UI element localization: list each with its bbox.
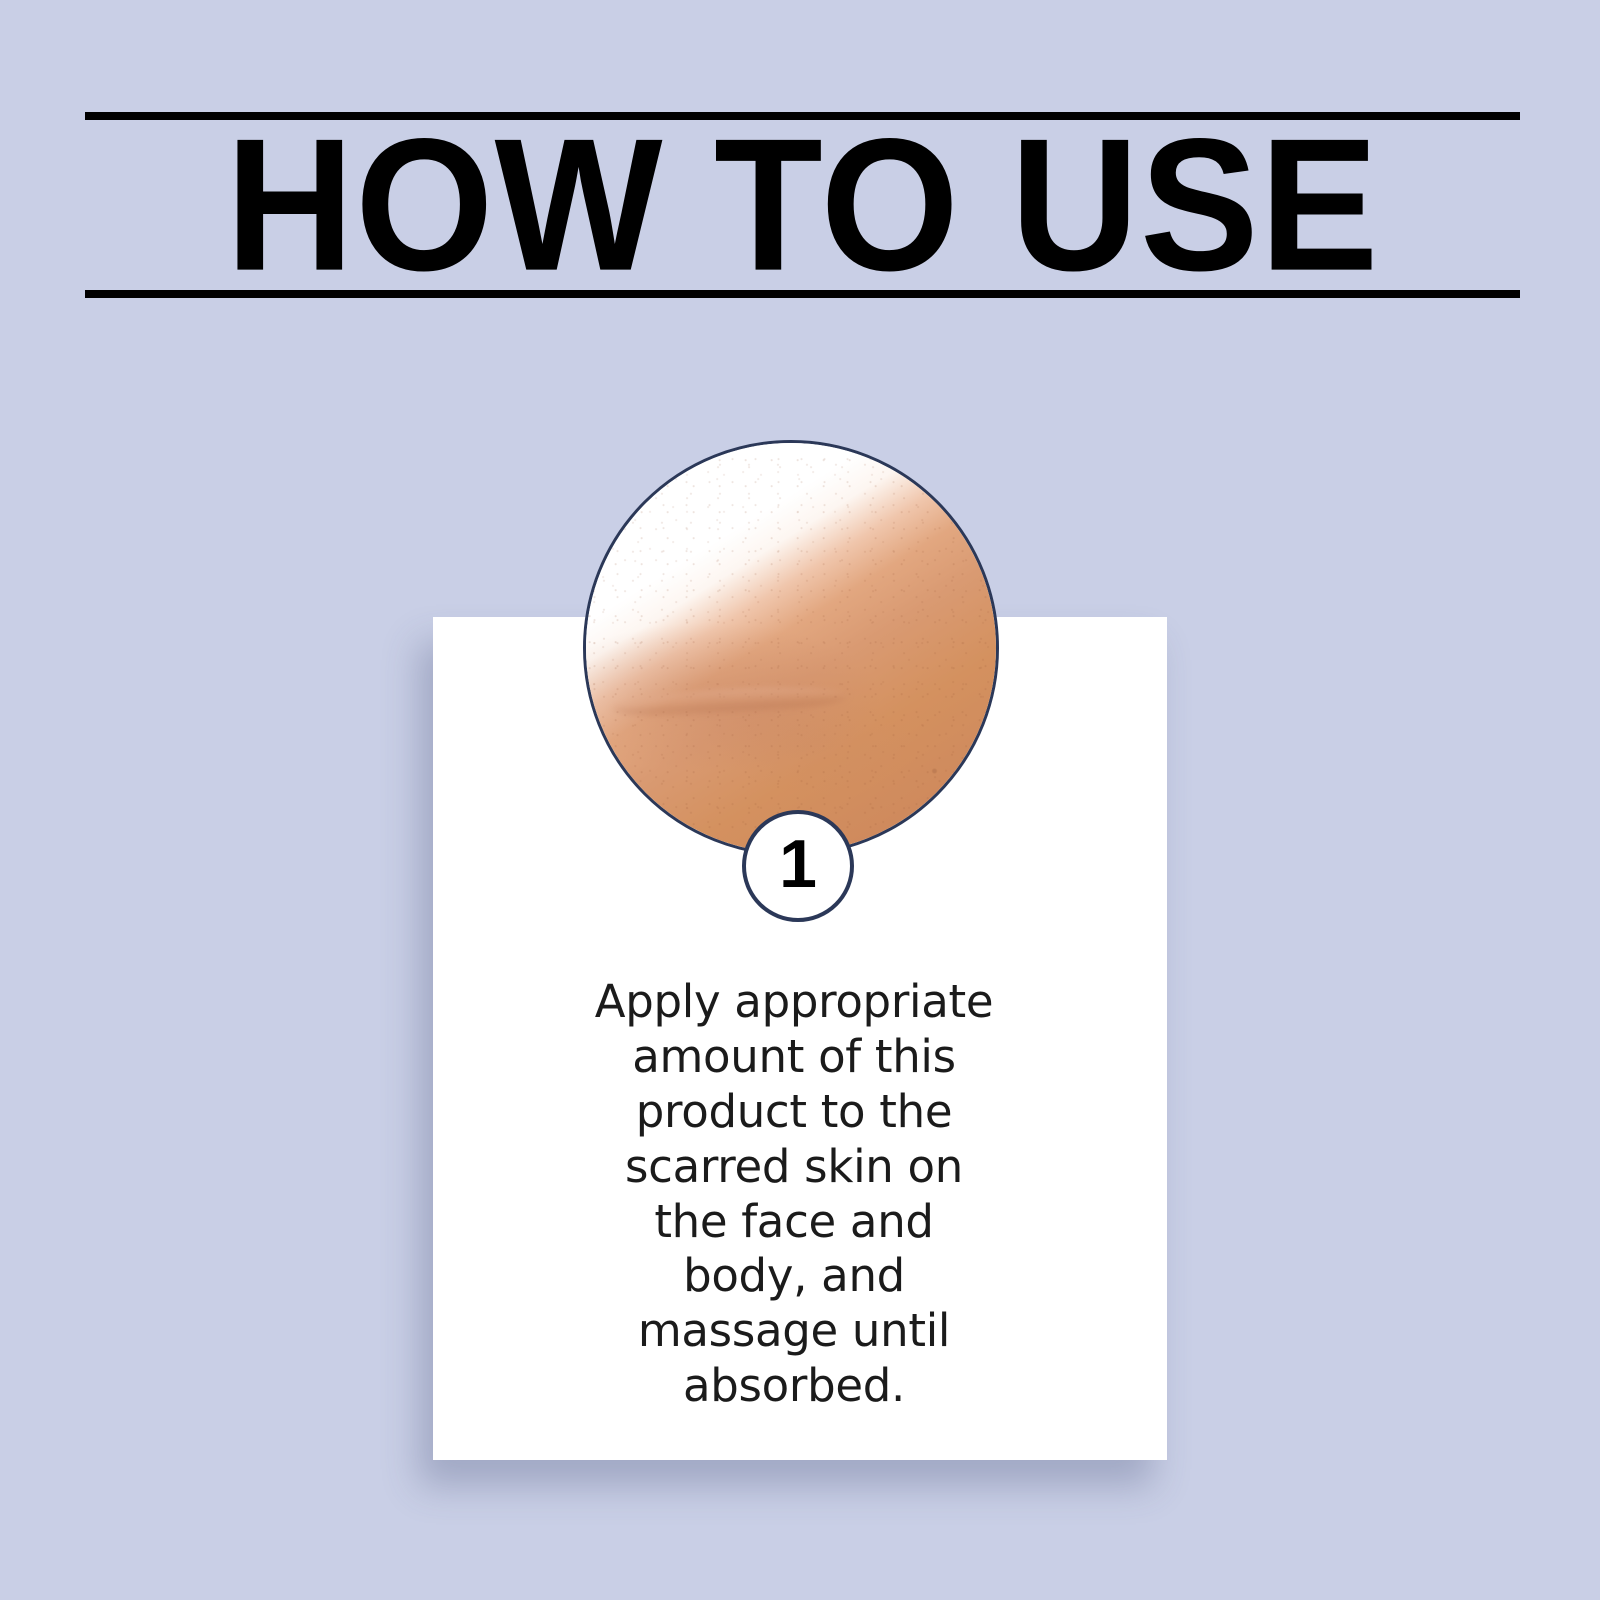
- skin-photo-circle: [583, 440, 999, 856]
- step-number-badge: 1: [742, 810, 854, 922]
- skin-texture-overlay: [586, 443, 996, 853]
- page-title: HOW TO USE: [226, 115, 1380, 294]
- how-to-use-poster: HOW TO USE 1 Apply appropriate amount of…: [0, 0, 1600, 1600]
- page-title-row: HOW TO USE: [85, 120, 1520, 290]
- header-block: HOW TO USE: [85, 112, 1520, 298]
- step-instruction-text: Apply appropriate amount of this product…: [594, 975, 994, 1414]
- step-number-label: 1: [779, 830, 817, 898]
